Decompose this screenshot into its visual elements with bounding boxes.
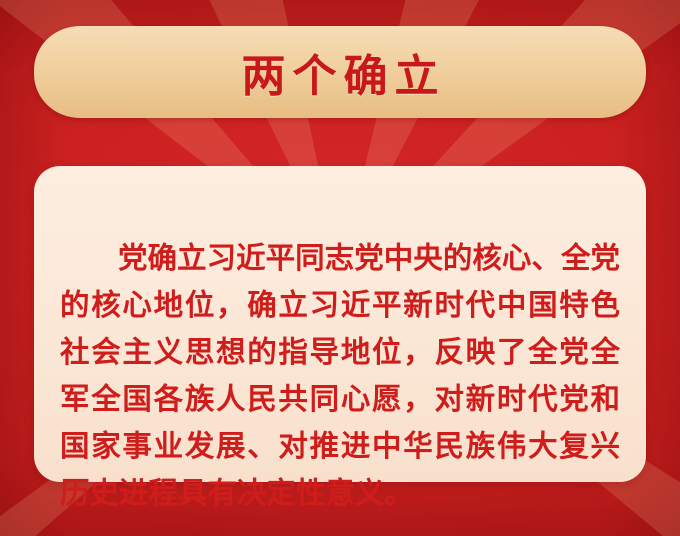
body-card: 党确立习近平同志党中央的核心、全党的核心地位，确立习近平新时代中国特色社会主义思…	[34, 166, 646, 482]
page-title: 两个确立	[235, 40, 446, 104]
body-paragraph: 党确立习近平同志党中央的核心、全党的核心地位，确立习近平新时代中国特色社会主义思…	[60, 236, 620, 518]
title-card: 两个确立	[34, 26, 646, 118]
poster-background: 两个确立 党确立习近平同志党中央的核心、全党的核心地位，确立习近平新时代中国特色…	[0, 0, 680, 536]
